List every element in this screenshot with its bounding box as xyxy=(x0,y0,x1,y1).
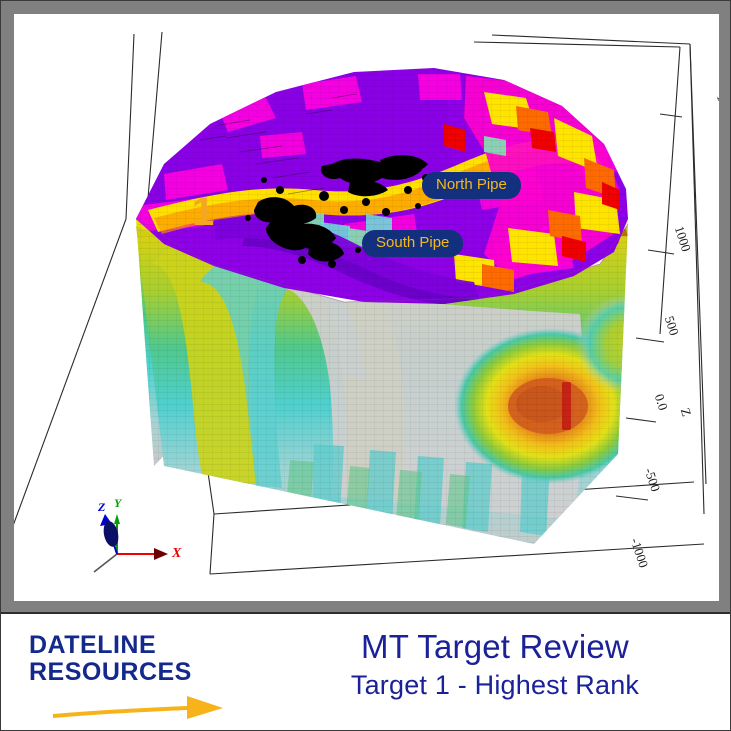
annotation-north-pipe[interactable]: North Pipe xyxy=(422,172,521,199)
model-viewer[interactable]: X Y Z 1500 1000 500 0.0 -500 -1000 -1500… xyxy=(14,14,719,601)
page-subtitle: Target 1 - Highest Rank xyxy=(271,668,719,702)
triad-y-label: Y xyxy=(114,496,121,511)
logo-line-1: DATELINE xyxy=(29,632,259,659)
triad-x-label: X xyxy=(172,546,181,562)
logo-arrow-icon xyxy=(47,688,243,720)
title-block: MT Target Review Target 1 - Highest Rank xyxy=(271,626,719,722)
slide-footer: DATELINE RESOURCES MT Target Review Targ… xyxy=(1,614,731,731)
viewer-frame: X Y Z 1500 1000 500 0.0 -500 -1000 -1500… xyxy=(1,1,731,614)
logo-line-2: RESOURCES xyxy=(29,659,259,686)
dateline-resources-logo: DATELINE RESOURCES xyxy=(29,632,259,716)
page-title: MT Target Review xyxy=(271,626,719,668)
triad-z-label: Z xyxy=(98,500,105,515)
z-axis xyxy=(616,114,682,500)
target-number-label: 1 xyxy=(192,192,214,232)
slide-root: X Y Z 1500 1000 500 0.0 -500 -1000 -1500… xyxy=(0,0,731,731)
annotation-south-pipe[interactable]: South Pipe xyxy=(362,230,463,257)
